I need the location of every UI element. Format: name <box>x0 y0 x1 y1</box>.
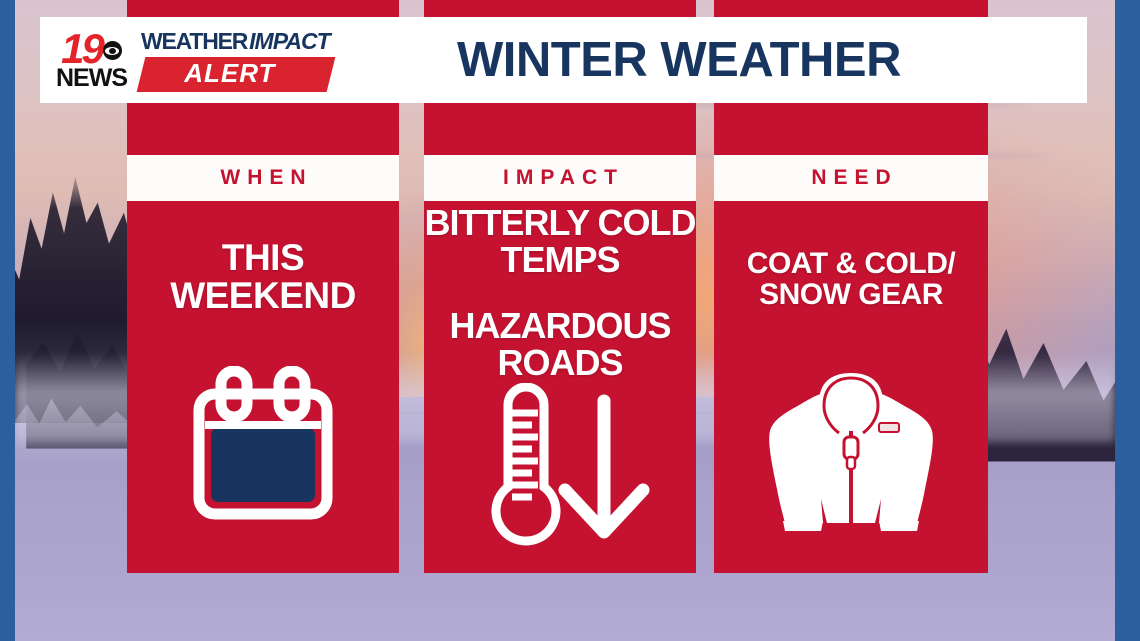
logo-19-row: 19 <box>61 32 122 66</box>
column-when-header-label: WHEN <box>213 166 312 190</box>
column-impact-header: IMPACT <box>424 155 696 201</box>
cbs-eye-icon <box>103 41 122 60</box>
weather-impact-alert-badge: WEATHER IMPACT ALERT <box>141 28 331 92</box>
column-impact-body: BITTERLY COLD TEMPS HAZARDOUS ROADS <box>424 201 696 573</box>
alert-word: ALERT <box>185 58 276 89</box>
column-impact-text-2: HAZARDOUS ROADS <box>424 308 696 381</box>
impact-word: IMPACT <box>249 28 329 55</box>
weather-word: WEATHER <box>141 28 247 55</box>
column-need-header-label: NEED <box>804 166 897 190</box>
column-when-text: THIS WEEKEND <box>127 239 399 314</box>
column-need-header: NEED <box>714 155 988 201</box>
frame-border-right <box>1115 0 1140 641</box>
logo-number: 19 <box>61 32 102 66</box>
column-impact-text-1: BITTERLY COLD TEMPS <box>424 205 696 278</box>
alert-band: ALERT <box>137 57 336 92</box>
logo-news-word: NEWS <box>56 68 127 89</box>
column-need-text: COAT & COLD/ SNOW GEAR <box>714 249 988 310</box>
thermometer-down-arrow-icon <box>424 383 696 555</box>
jacket-icon <box>714 373 988 538</box>
title-bar: 19 NEWS WEATHER IMPACT ALERT WINTER WEAT… <box>40 17 1087 103</box>
logo-19-news: 19 NEWS <box>56 32 127 89</box>
column-when-header: WHEN <box>127 155 399 201</box>
station-logo[interactable]: 19 NEWS WEATHER IMPACT ALERT <box>56 28 331 92</box>
weather-graphic: WHEN THIS WEEKEND IMPACT BITTERLY COLD T… <box>0 0 1140 641</box>
frame-border-left <box>0 0 15 641</box>
column-when-body: THIS WEEKEND <box>127 201 399 573</box>
weather-impact-row: WEATHER IMPACT <box>141 28 330 55</box>
column-need-body: COAT & COLD/ SNOW GEAR <box>714 201 988 573</box>
column-impact-header-label: IMPACT <box>496 166 624 190</box>
page-title: WINTER WEATHER <box>331 32 1027 88</box>
calendar-icon <box>127 366 399 526</box>
